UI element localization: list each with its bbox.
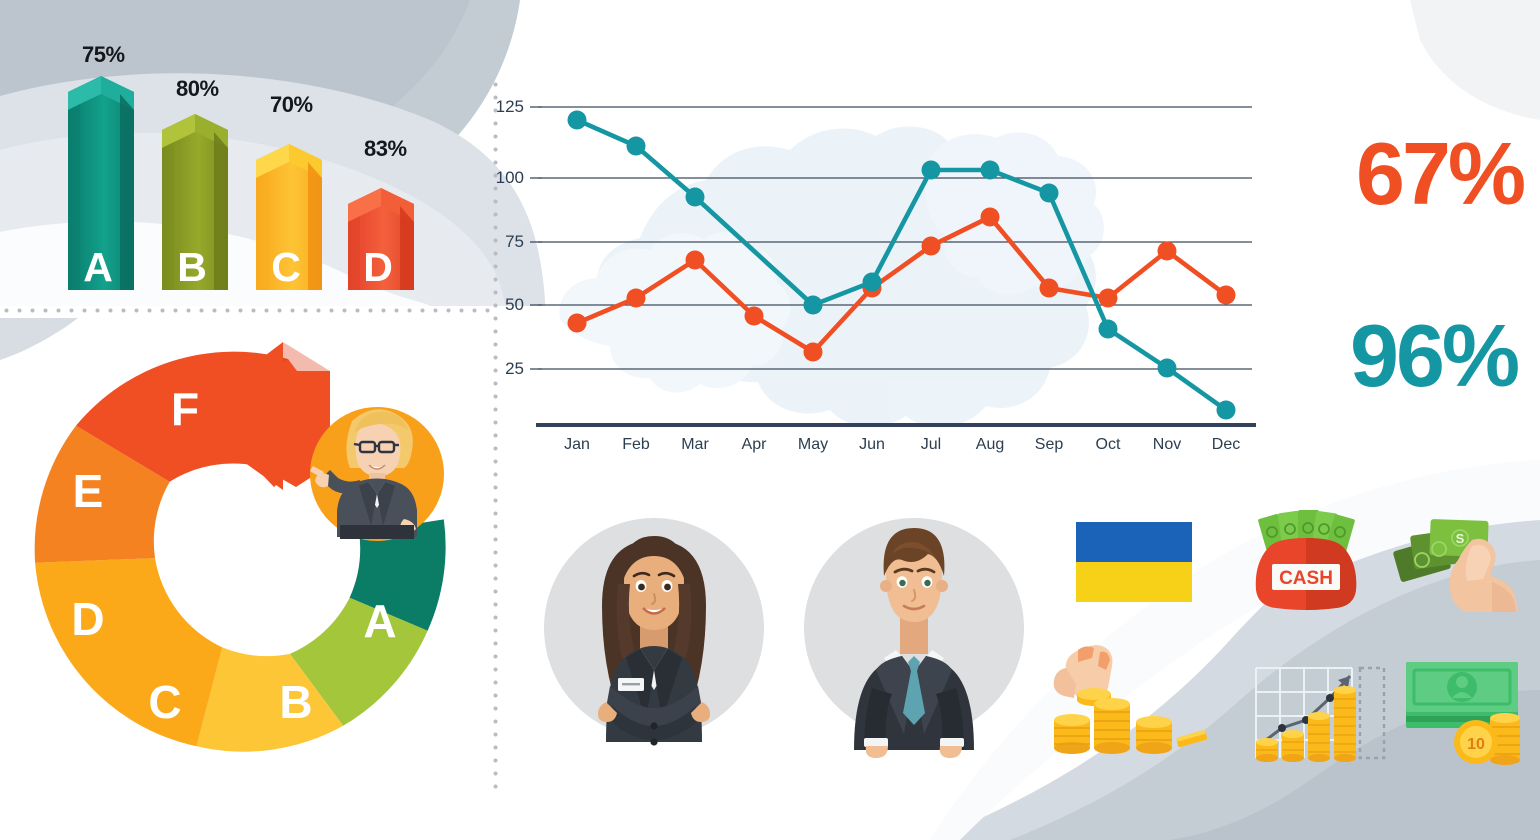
bar-label-c: C: [271, 244, 301, 290]
donut-label-c: C: [148, 676, 181, 728]
y-tick-125: 125: [484, 97, 524, 117]
x-tick-may: May: [785, 436, 841, 454]
banknote-coins-icon: 10: [1404, 656, 1538, 774]
line-chart: 125 100 75 50 25 Jan Feb Mar Apr May Jun…: [500, 80, 1260, 480]
bar-label-a: A: [83, 244, 113, 290]
bar-label-d: D: [363, 244, 393, 290]
vertical-dotted-divider: [493, 78, 498, 790]
x-tick-nov: Nov: [1139, 436, 1195, 454]
donut-label-e: E: [73, 465, 104, 517]
x-tick-dec: Dec: [1198, 436, 1254, 454]
y-tick-75: 75: [484, 232, 524, 252]
bar-percent-c: 70%: [270, 92, 313, 118]
bar-chart-3d: A B C D 75% 80% 70% 83%: [0, 0, 496, 306]
donut-label-f: F: [171, 383, 199, 435]
donut-segment-d: [35, 558, 222, 746]
x-tick-jun: Jun: [844, 436, 900, 454]
x-tick-oct: Oct: [1080, 436, 1136, 454]
hand-holding-money-icon: S: [1392, 512, 1518, 612]
business-woman-avatar: [540, 510, 768, 760]
bar-percent-a: 75%: [82, 42, 125, 68]
x-tick-mar: Mar: [667, 436, 723, 454]
x-tick-jan: Jan: [549, 436, 605, 454]
donut-label-a: A: [363, 595, 396, 647]
highlight-percent-bottom: 96%: [1350, 312, 1517, 400]
x-tick-sep: Sep: [1021, 436, 1077, 454]
x-tick-feb: Feb: [608, 436, 664, 454]
donut-cycle-chart: A B C D E F: [0, 315, 496, 815]
bar-percent-b: 80%: [176, 76, 219, 102]
highlight-percent-top: 67%: [1356, 130, 1523, 218]
ukraine-flag-icon: [1076, 522, 1192, 602]
x-tick-apr: Apr: [726, 436, 782, 454]
horizontal-dotted-divider: [0, 308, 496, 313]
line-chart-svg: [500, 80, 1260, 480]
growth-chart-coins-icon: [1248, 654, 1390, 772]
x-tick-jul: Jul: [903, 436, 959, 454]
business-woman-pointing-avatar: [310, 407, 444, 541]
donut-label-d: D: [71, 593, 104, 645]
y-tick-25: 25: [484, 359, 524, 379]
svg-text:S: S: [1456, 531, 1465, 546]
y-tick-100: 100: [484, 168, 524, 188]
bar-label-b: B: [177, 244, 207, 290]
x-tick-aug: Aug: [962, 436, 1018, 454]
donut-label-b: B: [279, 676, 312, 728]
cash-bag-icon: CASH: [1246, 510, 1366, 612]
bar-percent-d: 83%: [364, 136, 407, 162]
orange-series-line: [577, 217, 1226, 352]
business-man-avatar: [800, 510, 1028, 760]
infographic-canvas: A B C D 75% 80% 70% 83%: [0, 0, 1540, 840]
cash-bag-label: CASH: [1279, 568, 1333, 589]
coin-denomination-label: 10: [1467, 736, 1485, 753]
hand-stacking-coins-icon: [1048, 642, 1218, 766]
